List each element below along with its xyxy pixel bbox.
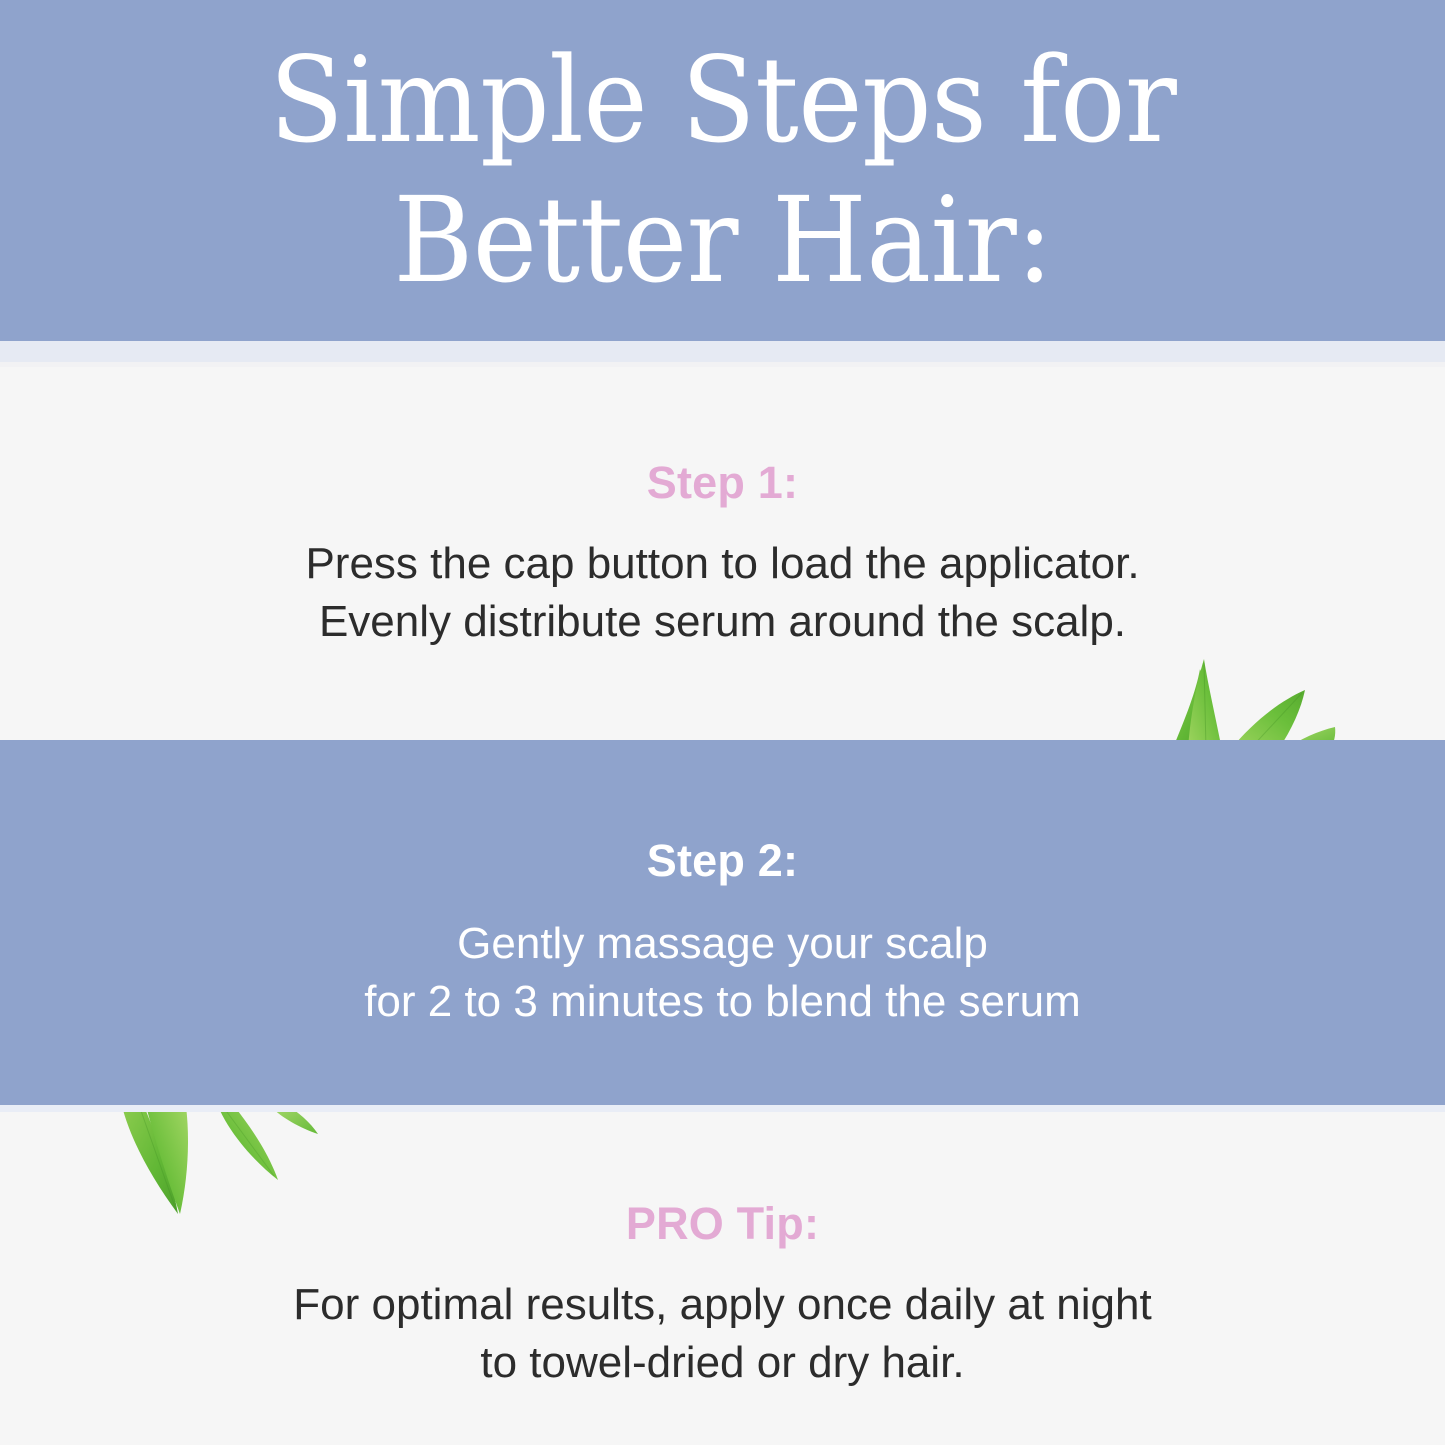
- step-2-body: Gently massage your scalp for 2 to 3 min…: [364, 915, 1081, 1031]
- leaf-cluster-top-right-icon: [1150, 645, 1350, 755]
- step-1-heading: Step 1:: [647, 457, 798, 509]
- header-separator: [0, 341, 1445, 362]
- step-1-body: Press the cap button to load the applica…: [305, 535, 1139, 651]
- leaf-icon: [110, 1106, 325, 1221]
- leaf-icon: [1150, 645, 1350, 755]
- pro-tip-body-line-2: to towel-dried or dry hair.: [293, 1334, 1151, 1392]
- section-step-2: Step 2: Gently massage your scalp for 2 …: [0, 740, 1445, 1105]
- header-band: Simple Steps for Better Hair:: [0, 0, 1445, 341]
- pro-tip-heading: PRO Tip:: [626, 1198, 819, 1250]
- page-title: Simple Steps for Better Hair:: [269, 31, 1176, 309]
- step-2-body-line-1: Gently massage your scalp: [364, 915, 1081, 973]
- step-1-body-line-1: Press the cap button to load the applica…: [305, 535, 1139, 593]
- pro-tip-body: For optimal results, apply once daily at…: [293, 1276, 1151, 1392]
- step-2-separator: [0, 1105, 1445, 1112]
- page-title-line-1: Simple Steps for: [269, 31, 1176, 170]
- infographic-canvas: Simple Steps for Better Hair: Step 1: Pr…: [0, 0, 1445, 1445]
- step-2-body-line-2: for 2 to 3 minutes to blend the serum: [364, 973, 1081, 1031]
- pro-tip-body-line-1: For optimal results, apply once daily at…: [293, 1276, 1151, 1334]
- leaf-cluster-bottom-left-icon: [110, 1106, 325, 1221]
- page-title-line-2: Better Hair:: [269, 171, 1176, 310]
- header-separator-soft: [0, 362, 1445, 367]
- step-2-heading: Step 2:: [647, 835, 798, 887]
- step-1-body-line-2: Evenly distribute serum around the scalp…: [305, 593, 1139, 651]
